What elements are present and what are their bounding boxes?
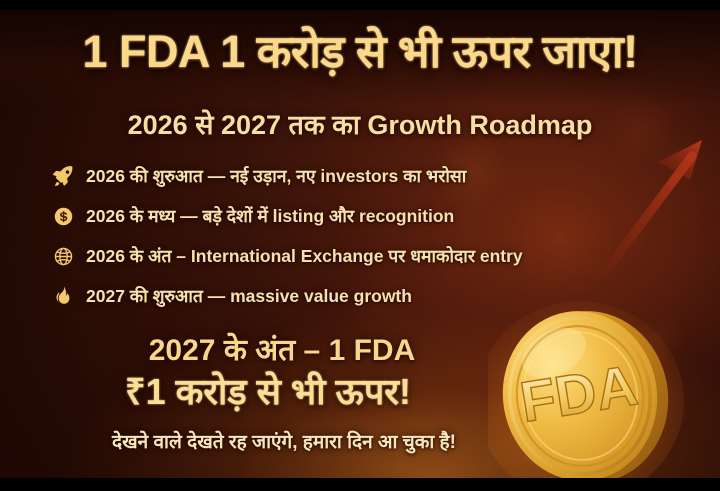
list-item: 2026 के मध्य — बड़े देशों में listing और… xyxy=(46,196,686,236)
list-item-label: 2026 के मध्य — बड़े देशों में listing और… xyxy=(80,204,454,228)
page-title: 1 FDA 1 करोड़ से भी ऊपर जाएा! xyxy=(0,20,720,81)
highlight-line-2: ₹1 करोड़ से भी ऊपर! xyxy=(38,366,498,415)
highlight-line-1: 2027 के अंत – 1 FDA xyxy=(52,328,512,369)
letterbox-bar-top xyxy=(0,0,720,10)
promo-poster: FDA 1 FDA 1 करोड़ से भी ऊपर जाएा! 2026 स… xyxy=(0,0,720,491)
list-item-label: 2026 के अंत – International Exchange पर … xyxy=(80,244,523,268)
poster-content: 1 FDA 1 करोड़ से भी ऊपर जाएा! 2026 से 20… xyxy=(0,0,720,491)
globe-icon xyxy=(46,246,80,267)
subtitle: 2026 से 2027 तक का Growth Roadmap xyxy=(0,105,720,142)
list-item: 2027 की शुरुआत — massive value growth xyxy=(46,276,686,316)
dollar-coin-icon xyxy=(46,206,80,227)
tagline: देखने वाले देखते रह जाएंगे, हमारा दिन आ … xyxy=(24,428,544,454)
rocket-icon xyxy=(46,164,80,188)
list-item-label: 2027 की शुरुआत — massive value growth xyxy=(80,284,412,308)
letterbox-bar-bottom xyxy=(0,478,720,491)
list-item: 2026 के अंत – International Exchange पर … xyxy=(46,236,686,276)
list-item-label: 2026 की शुरुआत — नई उड़ान, नए investors … xyxy=(80,164,466,188)
roadmap-bullet-list: 2026 की शुरुआत — नई उड़ान, नए investors … xyxy=(46,156,686,316)
fire-icon xyxy=(46,285,80,307)
list-item: 2026 की शुरुआत — नई उड़ान, नए investors … xyxy=(46,156,686,196)
